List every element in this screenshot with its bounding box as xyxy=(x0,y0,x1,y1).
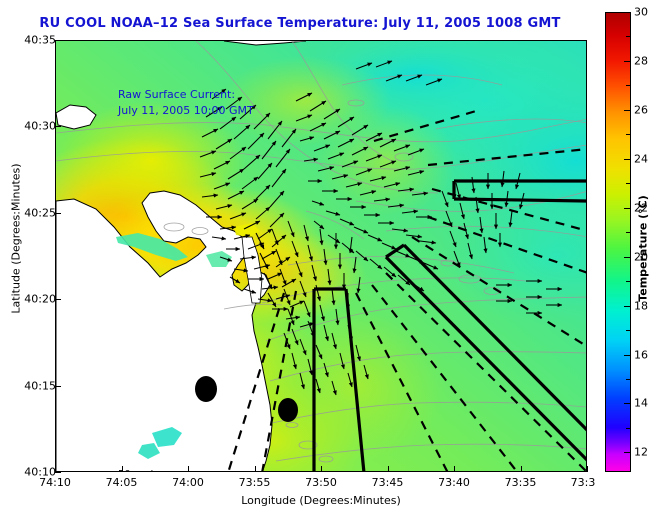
x-tick-label: 73:50 xyxy=(305,476,337,489)
y-tick-mark xyxy=(55,213,61,214)
y-tick-label: 40:15 xyxy=(24,379,56,392)
colorbar-minor-tick-mark xyxy=(626,183,631,184)
x-tick-mark xyxy=(55,466,56,472)
colorbar-tick-mark xyxy=(624,61,631,62)
figure-title: RU COOL NOAA–12 Sea Surface Temperature:… xyxy=(0,16,600,31)
y-tick-mark xyxy=(55,299,61,300)
x-tick-mark xyxy=(454,466,455,472)
x-tick-label: 74:05 xyxy=(106,476,138,489)
colorbar-minor-tick-mark xyxy=(626,36,631,37)
y-tick-mark xyxy=(55,386,61,387)
y-tick-label: 40:25 xyxy=(24,206,56,219)
colorbar-minor-tick-mark xyxy=(626,134,631,135)
colorbar-minor-tick-mark xyxy=(626,330,631,331)
x-tick-mark xyxy=(188,466,189,472)
colorbar-tick-mark xyxy=(624,110,631,111)
colorbar-tick-mark xyxy=(624,403,631,404)
x-tick-mark xyxy=(255,466,256,472)
velocity-scale-bar: 50 cm/s xyxy=(118,469,176,472)
y-tick-mark xyxy=(55,126,61,127)
colorbar-minor-tick-mark xyxy=(626,281,631,282)
colorbar-tick-mark xyxy=(624,306,631,307)
annotation-line-2: July 11, 2005 10:00 GMT xyxy=(118,103,254,119)
x-tick-label: 73:40 xyxy=(438,476,470,489)
x-tick-label: 73:45 xyxy=(372,476,404,489)
annotation-line-1: Raw Surface Current: xyxy=(118,87,254,103)
colorbar-tick-mark xyxy=(624,12,631,13)
x-tick-mark xyxy=(321,466,322,472)
x-tick-label: 73:3 xyxy=(571,476,596,489)
colorbar-tick-label: 12 xyxy=(634,446,648,459)
x-axis-label: Longitude (Degrees:Minutes) xyxy=(55,494,587,507)
colorbar-tick-label: 28 xyxy=(634,54,648,67)
x-tick-label: 73:55 xyxy=(239,476,271,489)
figure-root: RU COOL NOAA–12 Sea Surface Temperature:… xyxy=(0,0,651,518)
x-tick-label: 74:00 xyxy=(172,476,204,489)
y-tick-label: 40:30 xyxy=(24,120,56,133)
x-tick-label: 73:35 xyxy=(505,476,537,489)
colorbar-tick-mark xyxy=(624,355,631,356)
x-tick-mark xyxy=(521,466,522,472)
y-tick-label: 40:35 xyxy=(24,34,56,47)
map-plot-area[interactable]: Raw Surface Current: July 11, 2005 10:00… xyxy=(55,40,587,472)
colorbar-tick-mark xyxy=(624,452,631,453)
colorbar-tick-label: 16 xyxy=(634,348,648,361)
plot-annotation: Raw Surface Current: July 11, 2005 10:00… xyxy=(118,87,254,119)
colorbar-tick-label: 26 xyxy=(634,103,648,116)
colorbar-minor-tick-mark xyxy=(626,232,631,233)
colorbar-minor-tick-mark xyxy=(626,85,631,86)
scale-bar-label: 50 cm/s xyxy=(118,469,176,472)
y-tick-mark xyxy=(55,40,61,41)
colorbar-minor-tick-mark xyxy=(626,428,631,429)
radar-station-marker[interactable] xyxy=(278,398,298,422)
x-tick-mark xyxy=(587,466,588,472)
y-tick-label: 40:20 xyxy=(24,293,56,306)
colorbar-minor-tick-mark xyxy=(626,379,631,380)
y-tick-mark xyxy=(55,472,61,473)
colorbar-tick-label: 14 xyxy=(634,397,648,410)
colorbar-tick-mark xyxy=(624,208,631,209)
colorbar-tick-label: 30 xyxy=(634,6,648,19)
colorbar-tick-mark xyxy=(624,257,631,258)
colorbar-label: Temperature (°C) xyxy=(637,149,650,349)
y-axis-label: Latitude (Degrees:Minutes) xyxy=(10,129,23,349)
colorbar-tick-mark xyxy=(624,159,631,160)
x-tick-mark xyxy=(388,466,389,472)
x-tick-label: 74:10 xyxy=(39,476,71,489)
radar-station-marker[interactable] xyxy=(195,376,217,402)
